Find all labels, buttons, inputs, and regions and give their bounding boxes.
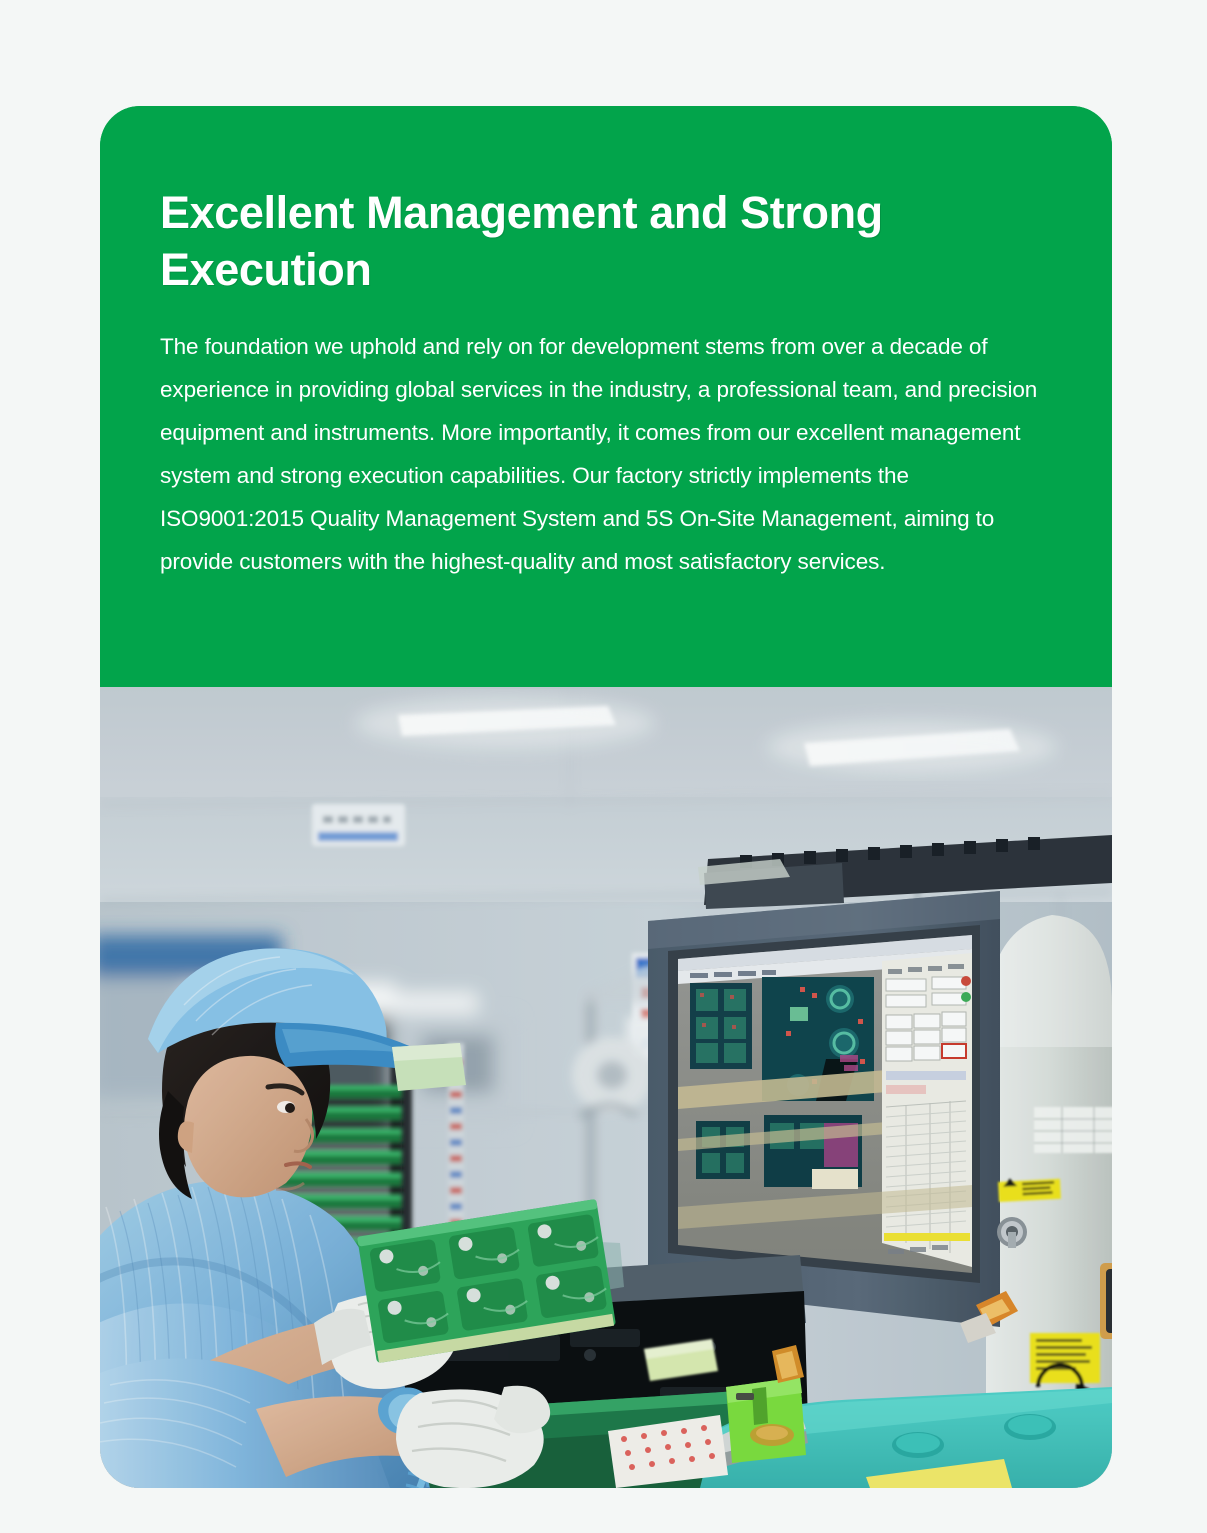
intro-paragraph: The foundation we uphold and rely on for… <box>160 325 1050 583</box>
factory-photo: Off On <box>100 687 1112 1488</box>
factory-photo-illustration: Off On <box>100 687 1112 1488</box>
page-root: Excellent Management and Strong Executio… <box>0 0 1207 1533</box>
page-title: Excellent Management and Strong Executio… <box>160 184 1020 298</box>
feature-card: Excellent Management and Strong Executio… <box>100 106 1112 1488</box>
intro-panel: Excellent Management and Strong Executio… <box>100 106 1112 687</box>
